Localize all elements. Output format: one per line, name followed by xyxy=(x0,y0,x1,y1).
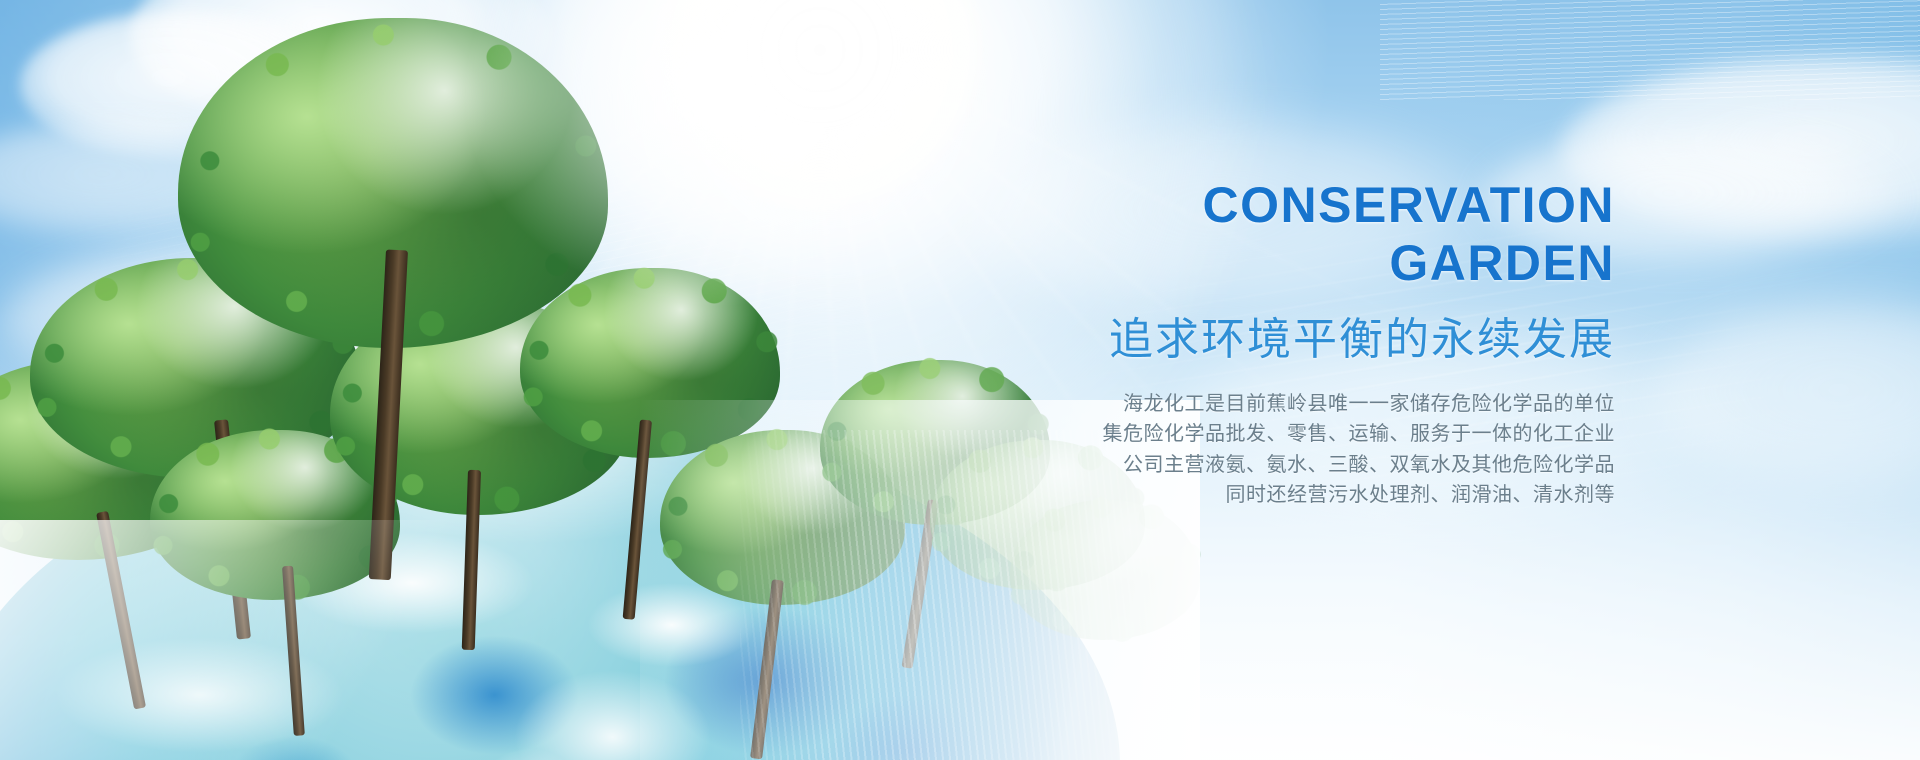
body-copy-line: 集危险化学品批发、零售、运输、服务于一体的化工企业 xyxy=(875,419,1615,449)
light-striation-lines xyxy=(0,80,860,500)
tree-icon xyxy=(660,430,905,605)
tree-trunk xyxy=(623,419,652,619)
cloud-shape xyxy=(1650,300,1920,500)
headline-line-2: GARDEN xyxy=(875,234,1615,292)
tree-icon xyxy=(0,360,230,560)
body-copy-line: 海龙化工是目前蕉岭县唯一一家储存危险化学品的单位 xyxy=(875,389,1615,419)
eco-hero-banner: CONSERVATION GARDEN 追求环境平衡的永续发展 海龙化工是目前蕉… xyxy=(0,0,1920,760)
tree-icon xyxy=(330,300,630,515)
cloud-shape xyxy=(40,330,660,510)
banner-headline-english: CONSERVATION GARDEN xyxy=(875,176,1615,292)
body-copy-line: 公司主营液氨、氨水、三酸、双氧水及其他危险化学品 xyxy=(875,450,1615,480)
tree-icon xyxy=(150,430,400,600)
tree-trunk xyxy=(96,511,146,710)
tree-icon xyxy=(30,258,360,478)
banner-headline-chinese: 追求环境平衡的永续发展 xyxy=(875,314,1615,367)
cloud-shape xyxy=(130,0,550,130)
tree-icon xyxy=(178,18,608,348)
tree-trunk xyxy=(214,419,251,639)
banner-body-copy: 海龙化工是目前蕉岭县唯一一家储存危险化学品的单位 集危险化学品批发、零售、运输、… xyxy=(875,389,1615,511)
tree-trunk xyxy=(901,499,938,669)
tree-trunk xyxy=(750,579,784,759)
cloud-shape xyxy=(250,40,550,160)
tree-icon xyxy=(520,268,780,458)
sunlight-bleach-overlay xyxy=(330,0,950,520)
tree-icon xyxy=(1010,500,1200,640)
cloud-shape xyxy=(0,120,300,240)
tree-trunk xyxy=(282,566,305,736)
cloud-shape xyxy=(0,240,520,400)
body-copy-line: 同时还经营污水处理剂、润滑油、清水剂等 xyxy=(875,480,1615,510)
tree-trunk xyxy=(462,470,481,650)
cloud-shape xyxy=(20,10,350,160)
banner-copy-block: CONSERVATION GARDEN 追求环境平衡的永续发展 海龙化工是目前蕉… xyxy=(875,176,1615,510)
bottom-white-vignette xyxy=(0,520,520,760)
tree-trunk xyxy=(369,249,408,580)
light-striation-lines xyxy=(1380,0,1920,100)
headline-line-1: CONSERVATION xyxy=(875,176,1615,234)
